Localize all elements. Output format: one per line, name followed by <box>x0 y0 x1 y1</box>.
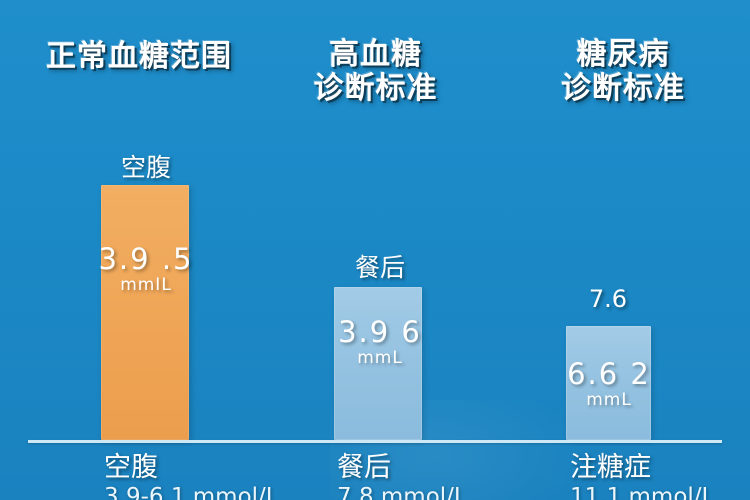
category-normal-range: 3.9-6.1 mmol/L <box>104 484 279 500</box>
category-high: 餐后 7.8 mmol/L <box>337 452 467 500</box>
bar-value-diabetes: 6.6 2 mmL <box>550 358 668 410</box>
plot-area: 空腹 餐后 7.6 3.9 .5 mmIL 3.9 6 mmL 6.6 2 mm… <box>0 0 750 500</box>
category-high-name: 餐后 <box>337 452 467 484</box>
baseline-axis <box>28 440 722 443</box>
category-diabetes: 注糖症 11.1 mmol/L <box>570 452 714 500</box>
category-normal-name: 空腹 <box>104 452 279 484</box>
category-normal: 空腹 3.9-6.1 mmol/L <box>104 452 279 500</box>
bar-value-high-number: 3.9 6 <box>330 316 430 348</box>
bar-value-normal: 3.9 .5 mmIL <box>96 243 196 295</box>
bar-top-label-high: 餐后 <box>330 248 430 284</box>
bar-normal-fasting <box>101 185 189 440</box>
bar-value-diabetes-number: 6.6 2 <box>550 358 668 390</box>
bar-value-normal-number: 3.9 .5 <box>96 243 196 275</box>
bar-value-high-unit: mmL <box>330 348 430 368</box>
category-diabetes-range: 11.1 mmol/L <box>570 484 714 500</box>
chart-canvas: 正常血糖范围 高血糖 诊断标准 糖尿病 诊断标准 空腹 餐后 7.6 3.9 .… <box>0 0 750 500</box>
category-high-range: 7.8 mmol/L <box>337 484 467 500</box>
bar-value-normal-unit: mmIL <box>96 275 196 295</box>
bar-top-label-diabetes: 7.6 <box>558 285 658 313</box>
bar-value-diabetes-unit: mmL <box>550 390 668 410</box>
bar-value-high: 3.9 6 mmL <box>330 316 430 368</box>
category-diabetes-name: 注糖症 <box>570 452 714 484</box>
bar-top-label-normal: 空腹 <box>96 148 196 184</box>
